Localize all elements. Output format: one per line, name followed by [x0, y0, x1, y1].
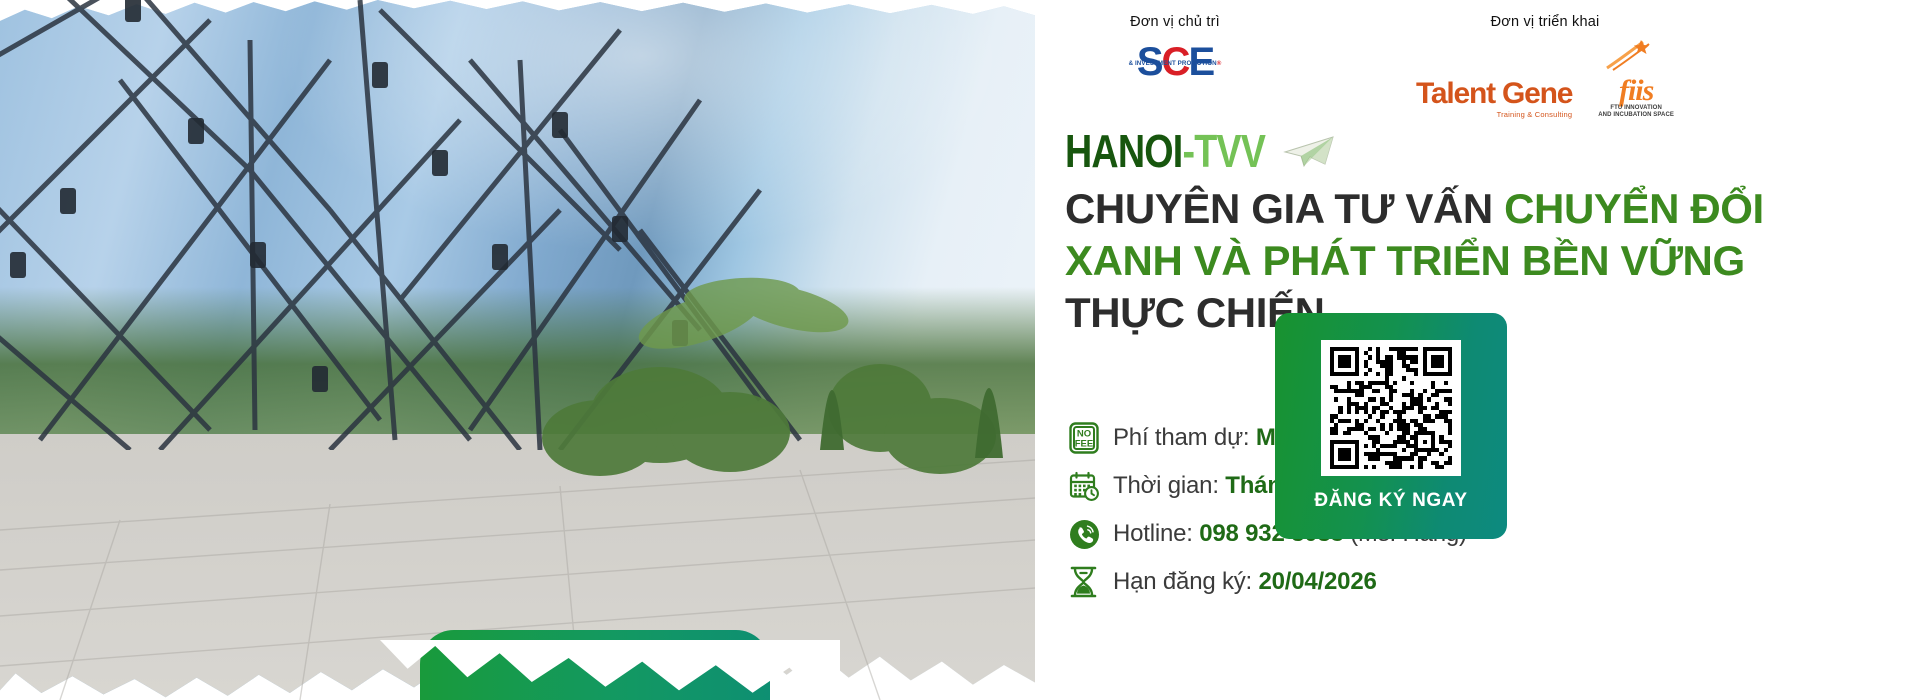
fiis-logo: fiis FTU INNOVATION AND INCUBATION SPACE [1598, 38, 1674, 119]
detail-text-deadline: Hạn đăng ký: 20/04/2026 [1113, 568, 1377, 596]
paper-plane-icon [1281, 134, 1335, 168]
host-organization: Đơn vị chủ trì SCE & INVESTMENT PROMOTIO… [1045, 14, 1305, 84]
brand-wordmark: HANOI-TVV [1065, 128, 1335, 174]
event-banner: Đơn vị chủ trì SCE & INVESTMENT PROMOTIO… [0, 0, 1920, 700]
fiis-tagline-1: FTU INNOVATION [1598, 105, 1674, 112]
brand-tvv: -TVV [1182, 125, 1265, 177]
headline-line1-b: CHUYỂN ĐỔI [1504, 185, 1764, 232]
talent-gene-logo: Talent Gene Training & Consulting [1416, 79, 1572, 119]
registration-cta-card[interactable]: ĐĂNG KÝ NGAY [1275, 313, 1507, 539]
detail-row-deadline: Hạn đăng ký: 20/04/2026 [1069, 558, 1467, 606]
partner-logos: Đơn vị chủ trì SCE & INVESTMENT PROMOTIO… [1035, 0, 1920, 118]
headline-line1-a: CHUYÊN GIA TƯ VẤN [1065, 185, 1504, 232]
brand-hanoi: HANOI [1065, 125, 1182, 177]
registration-qr-code[interactable] [1321, 340, 1461, 476]
cta-label: ĐĂNG KÝ NGAY [1314, 490, 1467, 512]
venue-photo [0, 0, 1035, 700]
fiis-tagline-2: AND INCUBATION SPACE [1598, 112, 1674, 119]
headline-line2: XANH VÀ PHÁT TRIỂN BỀN VỮNG [1065, 237, 1745, 284]
phone-call-icon [1069, 517, 1113, 551]
brand-text: HANOI-TVV [1065, 128, 1265, 174]
implementer-label: Đơn vị triển khai [1370, 14, 1720, 30]
host-label: Đơn vị chủ trì [1045, 14, 1305, 30]
green-accent-shape [420, 630, 770, 700]
detail-value-deadline: 20/04/2026 [1259, 568, 1377, 595]
detail-label-hotline: Hotline: [1113, 520, 1199, 547]
talent-gene-name: Talent Gene [1416, 79, 1572, 109]
detail-label-fee: Phí tham dự: [1113, 424, 1256, 451]
sce-logo-tagline: & INVESTMENT PROMOTION® [1119, 60, 1231, 67]
svg-text:FEE: FEE [1075, 438, 1093, 449]
no-fee-icon: NO FEE [1069, 421, 1113, 455]
qr-matrix [1330, 347, 1452, 469]
talent-gene-tagline: Training & Consulting [1416, 110, 1572, 119]
garden-foliage-decoration [0, 200, 1035, 500]
detail-label-deadline: Hạn đăng ký: [1113, 568, 1259, 595]
sce-logo: SCE & INVESTMENT PROMOTION® [1115, 40, 1235, 84]
registered-mark-icon: ® [1217, 60, 1222, 67]
fiis-name: fiis [1598, 77, 1674, 105]
fiis-swoosh-icon [1605, 38, 1667, 72]
calendar-clock-icon [1069, 469, 1113, 503]
detail-label-time: Thời gian: [1113, 472, 1225, 499]
hourglass-icon [1069, 565, 1113, 599]
